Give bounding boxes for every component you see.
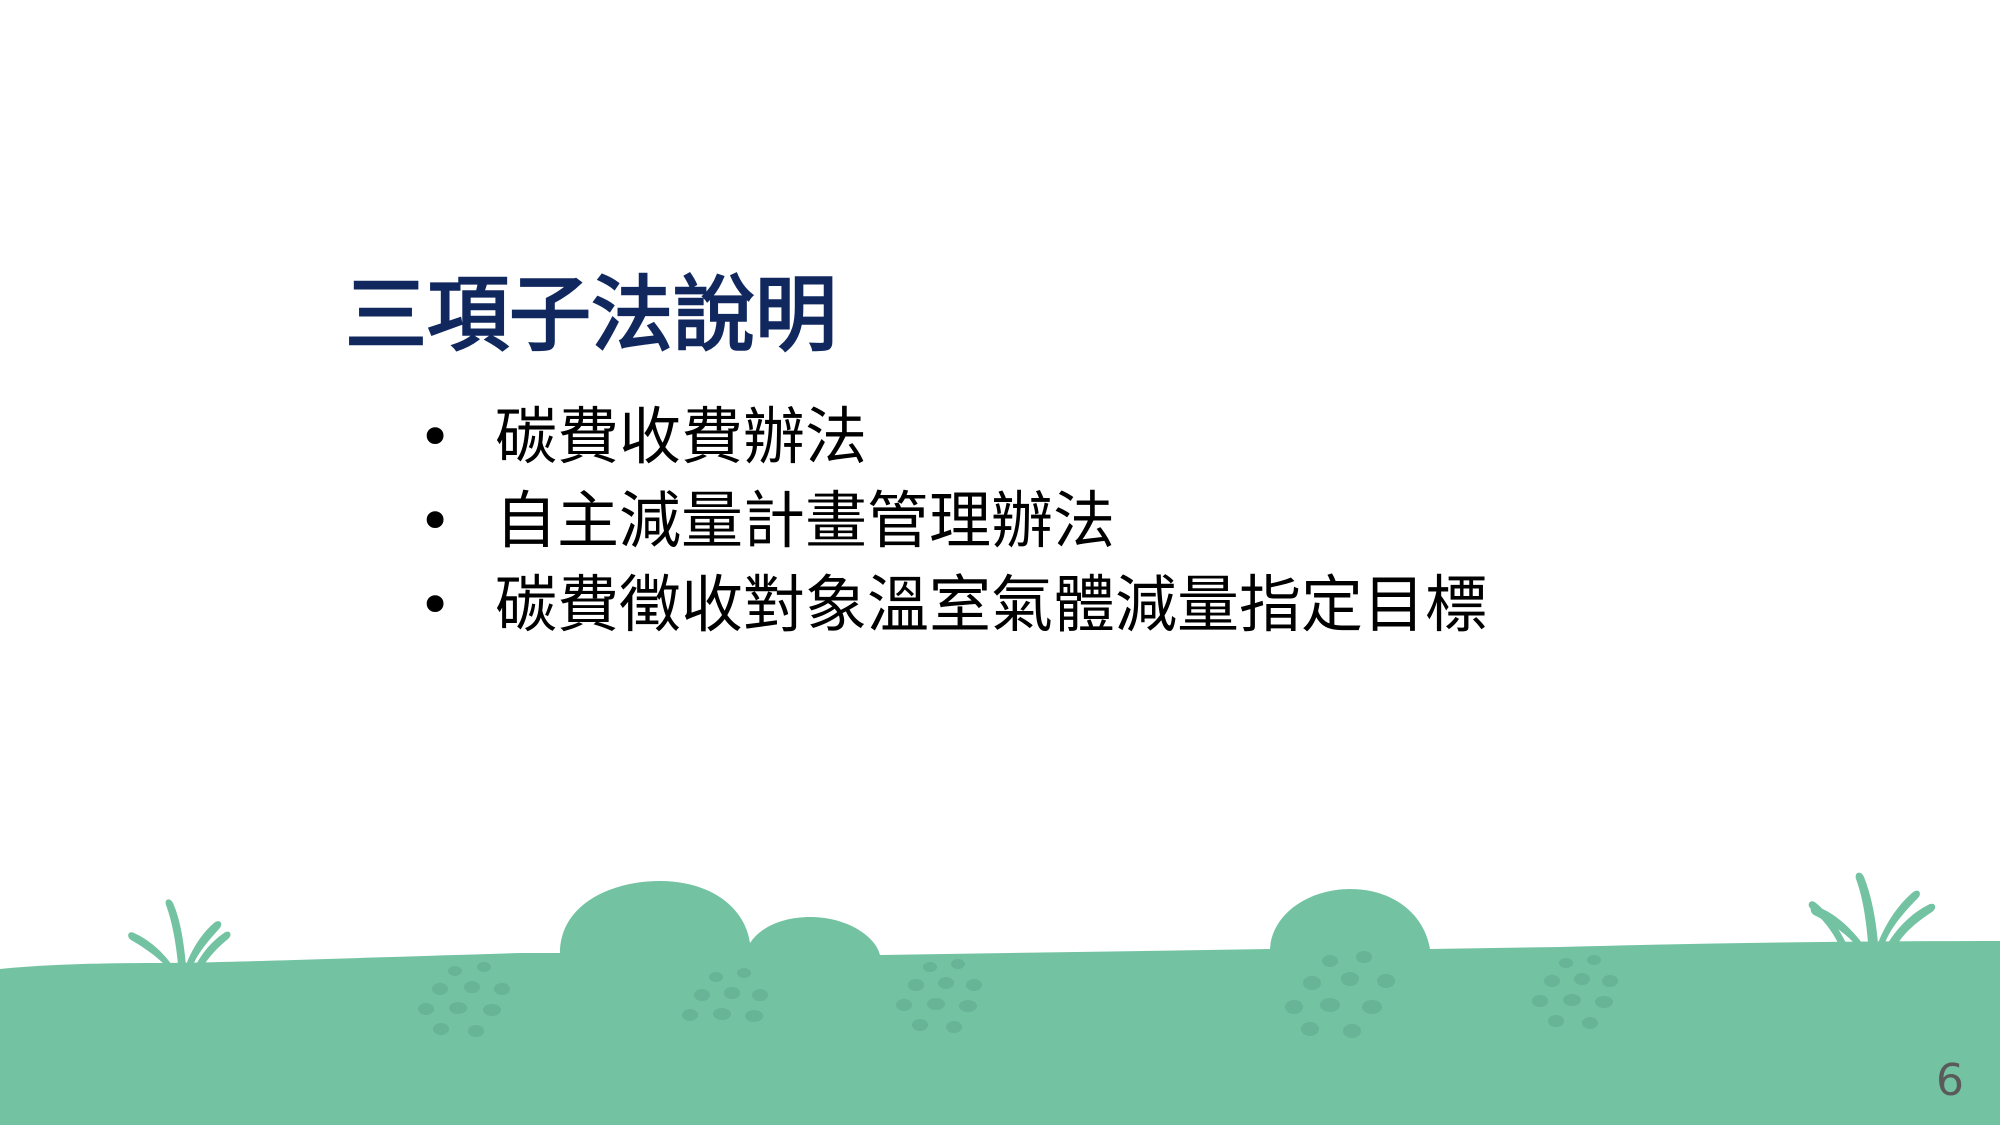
green-hill-footer-decoration bbox=[0, 865, 2000, 1125]
list-item-label: 碳費收費辦法 bbox=[495, 398, 1900, 476]
bullet-list: • 碳費收費辦法 • 自主減量計畫管理辦法 • 碳費徵收對象溫室氣體減量指定目標 bbox=[400, 398, 1900, 650]
page-number: 6 bbox=[1936, 1059, 1964, 1103]
list-item: • 碳費收費辦法 bbox=[400, 398, 1900, 482]
grass-tuft-right-icon bbox=[1809, 873, 1935, 943]
list-item: • 自主減量計畫管理辦法 bbox=[400, 482, 1900, 566]
bullet-point-icon: • bbox=[400, 398, 495, 476]
hill-shape bbox=[0, 881, 2000, 1125]
bullet-point-icon: • bbox=[400, 482, 495, 560]
list-item-label: 自主減量計畫管理辦法 bbox=[495, 482, 1900, 560]
grass-tuft-left-icon bbox=[128, 899, 230, 965]
list-item: • 碳費徵收對象溫室氣體減量指定目標 bbox=[400, 566, 1900, 650]
slide-canvas: 三項子法說明 • 碳費收費辦法 • 自主減量計畫管理辦法 • 碳費徵收對象溫室氣… bbox=[0, 0, 2000, 1125]
bullet-point-icon: • bbox=[400, 566, 495, 644]
list-item-label: 碳費徵收對象溫室氣體減量指定目標 bbox=[495, 566, 1900, 644]
page-title: 三項子法說明 bbox=[345, 275, 837, 357]
